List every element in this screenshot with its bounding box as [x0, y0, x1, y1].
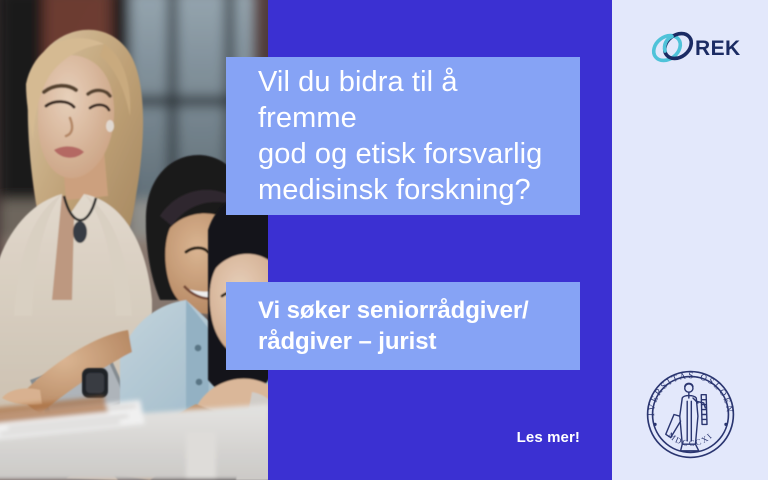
question-textbox: Vil du bidra til å fremme god og etisk f… — [226, 57, 580, 215]
job-title-text-block: Vi søker seniorrådgiver/ rådgiver – juri… — [258, 295, 529, 357]
interlocking-rings-icon — [650, 28, 696, 65]
rek-logo: REK — [650, 26, 740, 68]
question-line-1: Vil du bidra til å fremme — [258, 64, 550, 136]
rek-wordmark: REK — [695, 37, 740, 60]
question-text-block: Vil du bidra til å fremme god og etisk f… — [258, 64, 550, 208]
question-line-3: medisinsk forskning? — [258, 172, 550, 208]
seal-top-text: UNIVERSITAS OSLOENSIS — [641, 365, 735, 416]
job-title-line-1: Vi søker seniorrådgiver/ — [258, 295, 529, 326]
recruitment-banner: Vil du bidra til å fremme god og etisk f… — [0, 0, 768, 480]
uio-seal: UNIVERSITAS OSLOENSIS MDCCCXI — [641, 365, 740, 464]
read-more-link[interactable]: Les mer! — [0, 429, 580, 446]
question-line-2: god og etisk forsvarlig — [258, 136, 550, 172]
job-title-textbox: Vi søker seniorrådgiver/ rådgiver – juri… — [226, 282, 580, 370]
job-title-line-2: rådgiver – jurist — [258, 326, 529, 357]
